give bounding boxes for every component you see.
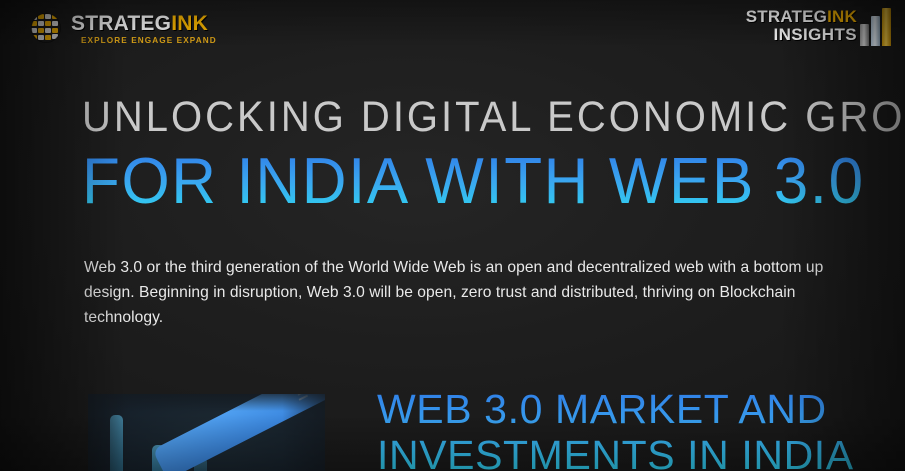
insights-word-strateg: STRATEG (746, 7, 827, 26)
insights-word-insights: INSIGHTS (774, 25, 858, 44)
page-header: STRATEGINK EXPLORE ENGAGE EXPAND STRATEG… (0, 0, 905, 58)
infographic-page: STRATEGINK EXPLORE ENGAGE EXPAND STRATEG… (0, 0, 905, 471)
bar-chart-icon (860, 8, 891, 46)
section-heading-line-2: INVESTMENTS IN INDIA (377, 432, 897, 471)
brand-logo-strategink[interactable]: STRATEGINK EXPLORE ENGAGE EXPAND (26, 8, 217, 48)
bar-chart-icon-bar-1 (860, 24, 869, 46)
illustration-fade-overlay (88, 394, 325, 471)
brand-tagline: EXPLORE ENGAGE EXPAND (71, 35, 217, 46)
section-heading-line-1: WEB 3.0 MARKET AND (377, 386, 827, 432)
hero-kicker: UNLOCKING DIGITAL ECONOMIC GROWTH (82, 92, 872, 143)
crypto-growth-chart-illustration: Ξ ฿ Ł (88, 394, 325, 471)
brand-logo-text: STRATEGINK EXPLORE ENGAGE EXPAND (71, 13, 217, 46)
insights-word-ink: INK (827, 7, 857, 26)
intro-paragraph: Web 3.0 or the third generation of the W… (84, 255, 824, 330)
brand-word-ink: INK (171, 12, 208, 35)
section-heading: WEB 3.0 MARKET AND INVESTMENTS IN INDIA (377, 386, 897, 471)
puzzle-globe-icon (26, 8, 66, 48)
brand-word-strateg: STRATEG (71, 12, 171, 35)
brand-logo-strategink-insights[interactable]: STRATEGINK INSIGHTS (746, 8, 891, 46)
hero-block: UNLOCKING DIGITAL ECONOMIC GROWTH FOR IN… (82, 92, 872, 214)
bar-chart-icon-bar-2 (871, 16, 880, 46)
page-title: FOR INDIA WITH WEB 3.0 (82, 148, 872, 217)
bar-chart-icon-bar-3 (882, 8, 891, 46)
insights-logo-text: STRATEGINK INSIGHTS (746, 8, 857, 45)
